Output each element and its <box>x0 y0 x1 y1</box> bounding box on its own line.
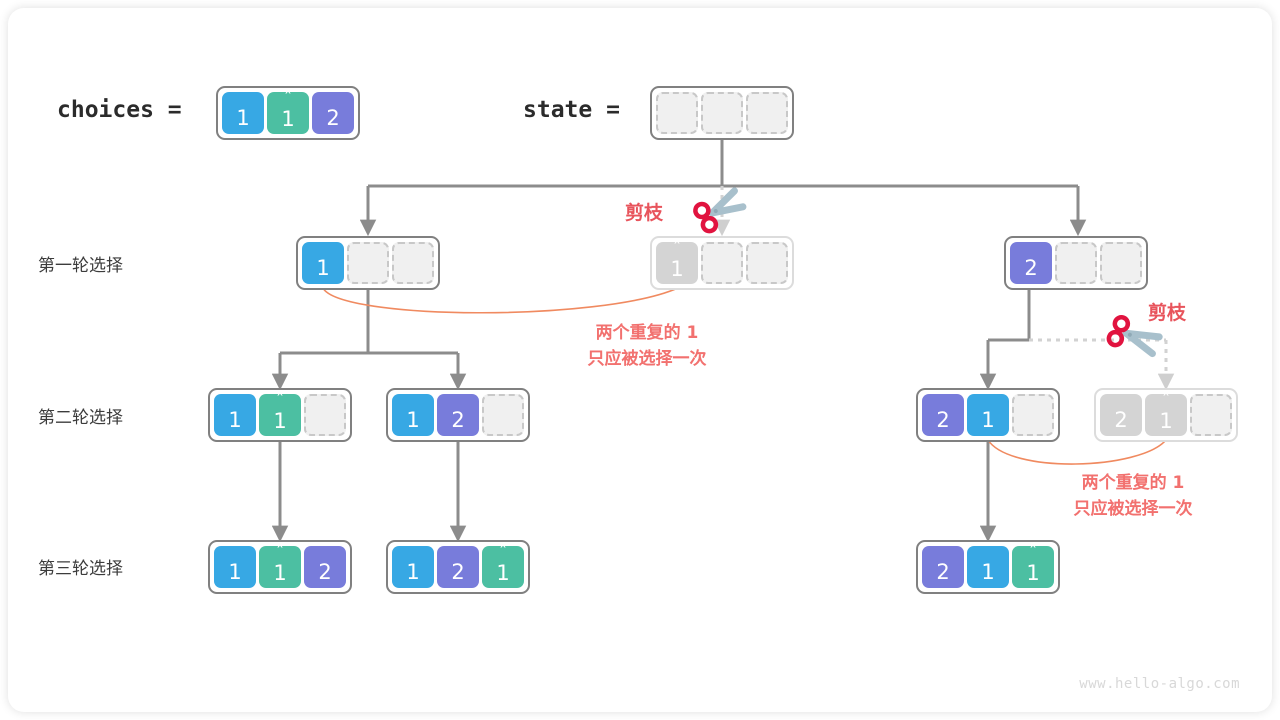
state-cell-0 <box>656 92 698 134</box>
cell-value: 1 <box>670 259 683 280</box>
state-cell-2 <box>746 92 788 134</box>
cell-value: 1 <box>228 562 241 583</box>
L3-a-cell-0: 1 <box>214 546 256 588</box>
L1-c-cell-2 <box>1100 242 1142 284</box>
node-level2-2: 12 <box>386 388 530 442</box>
cell-value: 1 <box>406 410 419 431</box>
cell-value: 1 <box>496 563 509 584</box>
cell-value: 1 <box>981 562 994 583</box>
L2-d-pruned-cell-2 <box>1190 394 1232 436</box>
node-level3-2: 12ˆ1 <box>386 540 530 594</box>
row-label-level1: 第一轮选择 <box>38 251 123 276</box>
cell-value: 1 <box>406 562 419 583</box>
L1-b-pruned-cell-2 <box>746 242 788 284</box>
choices-cell-2: 2 <box>312 92 354 134</box>
cell-value: 2 <box>936 410 949 431</box>
L2-a-cell-1: ˆ1 <box>259 394 301 436</box>
cell-value: 2 <box>326 108 339 129</box>
note-center: 两个重复的 1 只应被选择一次 <box>552 320 742 372</box>
note-right-line2: 只应被选择一次 <box>1038 496 1228 522</box>
watermark: www.hello-algo.com <box>1079 676 1240 692</box>
cell-value: 2 <box>318 562 331 583</box>
cell-value: 2 <box>1114 410 1127 431</box>
state-cell-1 <box>701 92 743 134</box>
note-right-line1: 两个重复的 1 <box>1038 470 1228 496</box>
L2-b-cell-1: 2 <box>437 394 479 436</box>
cell-value: 1 <box>236 108 249 129</box>
L1-c-cell-1 <box>1055 242 1097 284</box>
state-array <box>650 86 794 140</box>
L3-a-cell-1: ˆ1 <box>259 546 301 588</box>
cell-value: 1 <box>228 410 241 431</box>
L1-b-pruned-cell-1 <box>701 242 743 284</box>
cell-value: 1 <box>981 410 994 431</box>
L3-c-cell-2: ˆ1 <box>1012 546 1054 588</box>
cell-value: 1 <box>1026 563 1039 584</box>
L1-a-cell-2 <box>392 242 434 284</box>
choices-array: 1ˆ12 <box>216 86 360 140</box>
node-level2-pruned: 2ˆ1 <box>1094 388 1238 442</box>
L1-c-cell-0: 2 <box>1010 242 1052 284</box>
cell-value: 1 <box>316 258 329 279</box>
choices-label: choices = <box>57 97 182 123</box>
note-right: 两个重复的 1 只应被选择一次 <box>1038 470 1228 522</box>
hat-mark-icon: ˆ <box>1012 547 1054 559</box>
hat-mark-icon: ˆ <box>259 547 301 559</box>
node-level1-1: 1 <box>296 236 440 290</box>
node-level2-3: 21 <box>916 388 1060 442</box>
L2-d-pruned-cell-0: 2 <box>1100 394 1142 436</box>
cell-value: 2 <box>451 410 464 431</box>
note-center-line2: 只应被选择一次 <box>552 346 742 372</box>
node-level3-3: 21ˆ1 <box>916 540 1060 594</box>
choices-cell-1: ˆ1 <box>267 92 309 134</box>
L3-b-cell-0: 1 <box>392 546 434 588</box>
L2-c-cell-2 <box>1012 394 1054 436</box>
cell-value: 1 <box>273 411 286 432</box>
note-center-line1: 两个重复的 1 <box>552 320 742 346</box>
row-label-level3: 第三轮选择 <box>38 554 123 579</box>
L1-b-pruned-cell-0: ˆ1 <box>656 242 698 284</box>
L2-c-cell-1: 1 <box>967 394 1009 436</box>
L3-c-cell-0: 2 <box>922 546 964 588</box>
cell-value: 1 <box>1159 411 1172 432</box>
diagram-canvas: choices = 1ˆ12 state = 第一轮选择 第二轮选择 第三轮选择… <box>0 0 1280 720</box>
L2-c-cell-0: 2 <box>922 394 964 436</box>
L2-d-pruned-cell-1: ˆ1 <box>1145 394 1187 436</box>
cell-value: 2 <box>451 562 464 583</box>
hat-mark-icon: ˆ <box>482 547 524 559</box>
node-level1-2: 2 <box>1004 236 1148 290</box>
cell-value: 2 <box>1024 258 1037 279</box>
hat-mark-icon: ˆ <box>656 243 698 255</box>
L3-b-cell-2: ˆ1 <box>482 546 524 588</box>
choices-cell-0: 1 <box>222 92 264 134</box>
node-level2-1: 1ˆ1 <box>208 388 352 442</box>
L2-a-cell-2 <box>304 394 346 436</box>
node-level1-pruned: ˆ1 <box>650 236 794 290</box>
L3-a-cell-2: 2 <box>304 546 346 588</box>
prune-label-top: 剪枝 <box>625 198 663 225</box>
L2-a-cell-0: 1 <box>214 394 256 436</box>
L1-a-cell-0: 1 <box>302 242 344 284</box>
hat-mark-icon: ˆ <box>1145 395 1187 407</box>
node-level3-1: 1ˆ12 <box>208 540 352 594</box>
state-label: state = <box>523 97 620 123</box>
prune-label-right: 剪枝 <box>1148 298 1186 325</box>
L2-b-cell-0: 1 <box>392 394 434 436</box>
hat-mark-icon: ˆ <box>259 395 301 407</box>
L3-c-cell-1: 1 <box>967 546 1009 588</box>
L2-b-cell-2 <box>482 394 524 436</box>
cell-value: 2 <box>936 562 949 583</box>
L3-b-cell-1: 2 <box>437 546 479 588</box>
cell-value: 1 <box>281 109 294 130</box>
L1-a-cell-1 <box>347 242 389 284</box>
cell-value: 1 <box>273 563 286 584</box>
row-label-level2: 第二轮选择 <box>38 403 123 428</box>
hat-mark-icon: ˆ <box>267 93 309 105</box>
